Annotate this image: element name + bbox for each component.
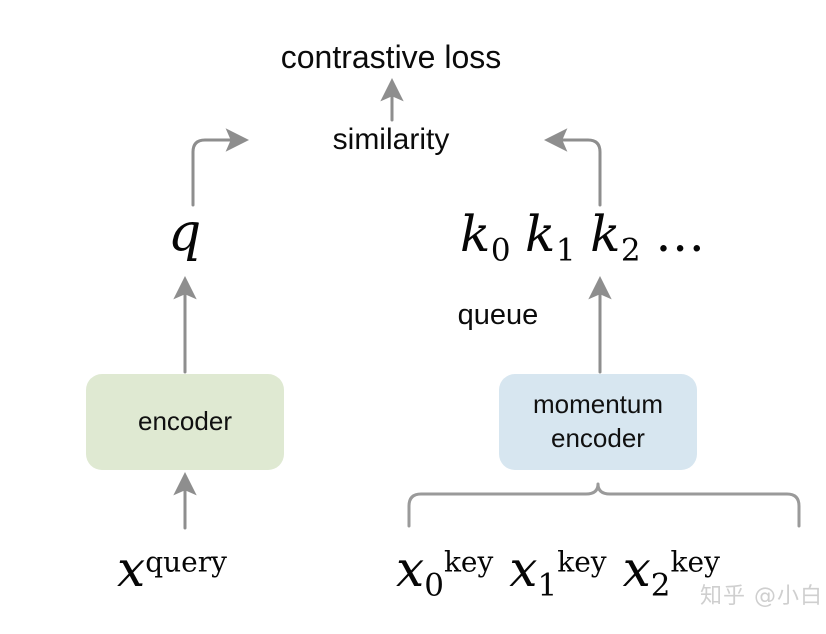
diagram-canvas: contrastive loss similarity queue q k0k1… (0, 0, 826, 634)
key-input-0: x0key (396, 540, 493, 598)
key-features-ellipsis: … (655, 205, 707, 263)
key-inputs-symbols: x0keyx1keyx2key (396, 540, 720, 598)
key-input-1: x1key (509, 540, 606, 598)
connector-query-to-similarity (193, 140, 237, 205)
query-feature-symbol: q (168, 203, 201, 263)
queue-label: queue (398, 296, 598, 334)
key-feature-1: k1 (525, 205, 576, 263)
momentum-encoder-line2: encoder (551, 423, 645, 453)
query-input-symbol: xquery (117, 540, 227, 598)
contrastive-loss-label: contrastive loss (231, 36, 551, 80)
key-feature-0: k0 (460, 205, 511, 263)
q-base: q (168, 203, 201, 263)
connector-keys-brace (409, 484, 799, 526)
key-features-symbols: k0k1k2… (460, 205, 707, 263)
similarity-label: similarity (301, 120, 481, 160)
encoder-box: encoder (86, 374, 284, 470)
key-feature-2: k2 (590, 205, 641, 263)
watermark: 知乎 @小白 (700, 578, 823, 610)
encoder-box-label: encoder (138, 405, 232, 439)
momentum-encoder-box: momentumencoder (499, 374, 697, 470)
connector-keys-to-similarity (556, 140, 600, 205)
momentum-encoder-line1: momentum (533, 389, 663, 419)
momentum-encoder-box-label: momentumencoder (533, 388, 663, 456)
